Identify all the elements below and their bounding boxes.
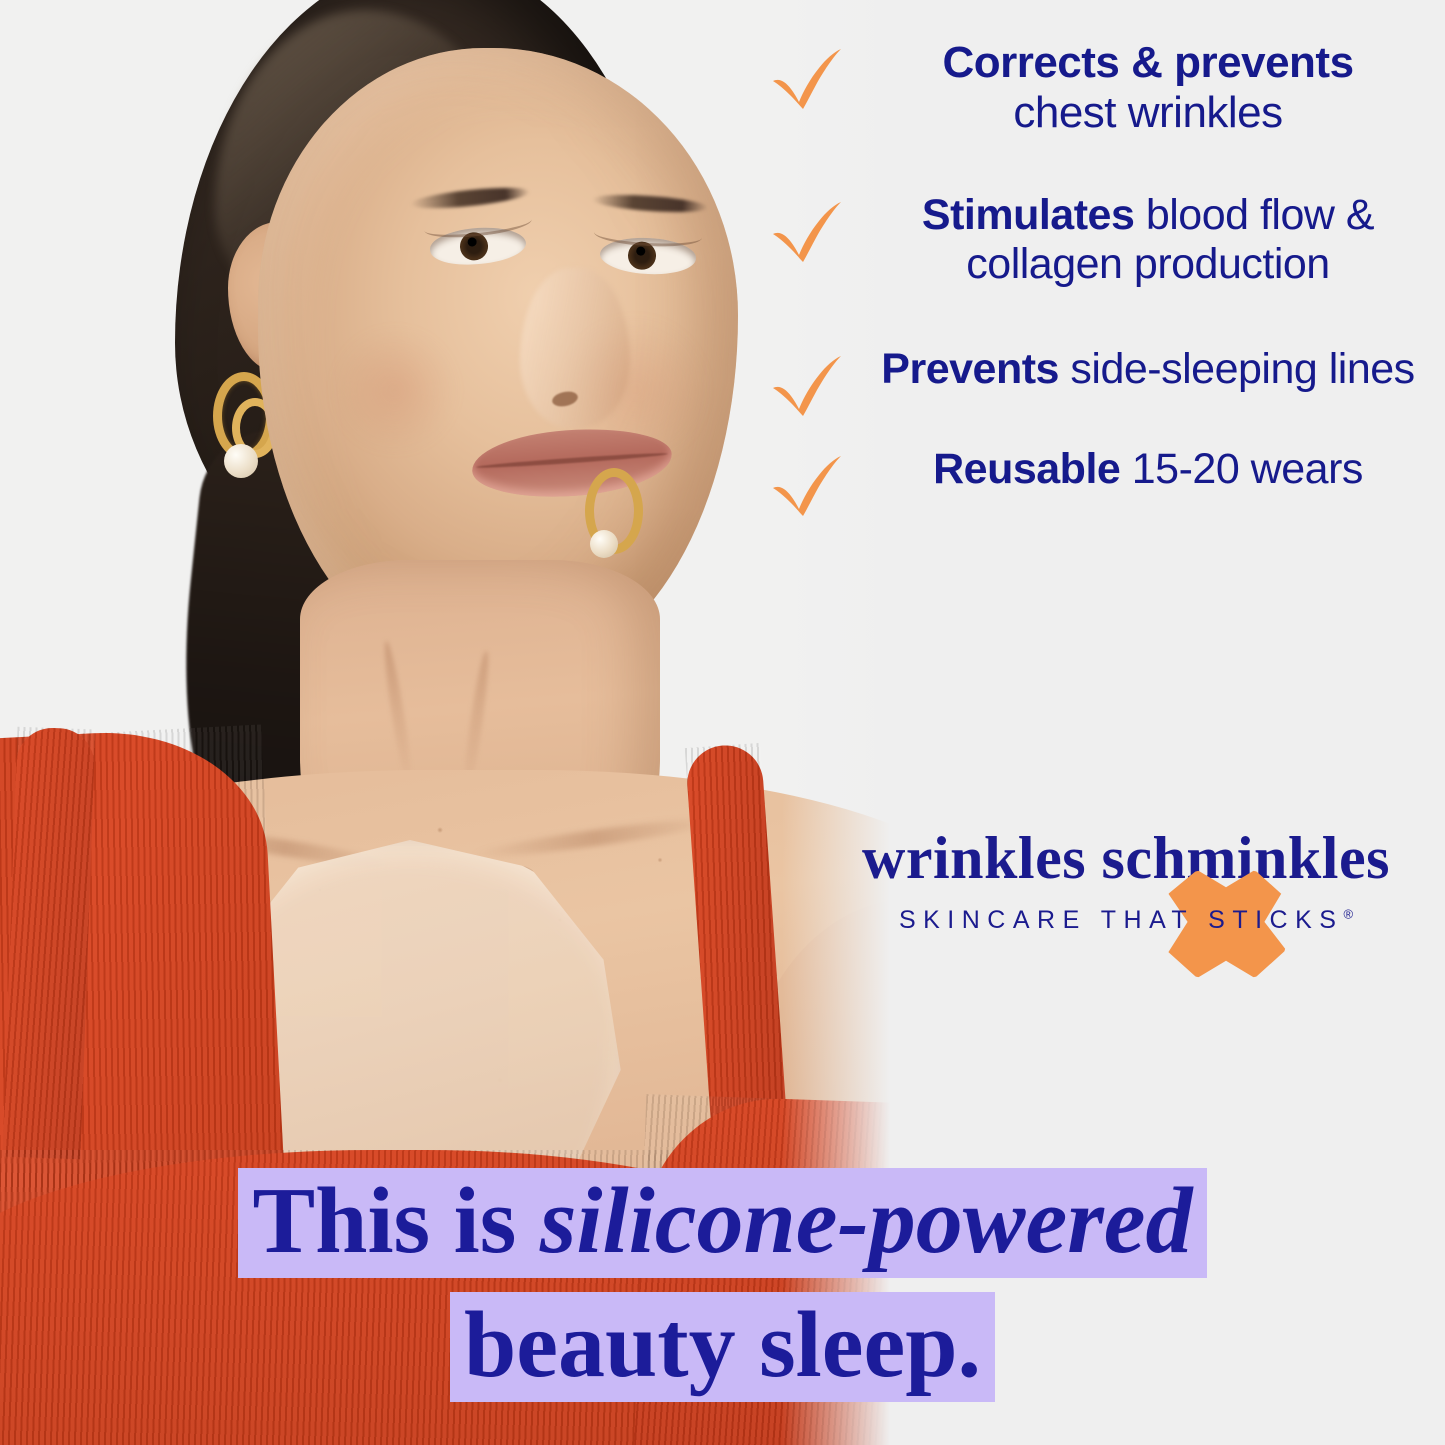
benefit-item-stimulates: Stimulates blood flow & collagen product… xyxy=(770,191,1430,288)
headline-line-2: beauty sleep. xyxy=(0,1292,1445,1402)
headline-italic-text: silicone-powered xyxy=(540,1169,1193,1273)
headline-band-2: beauty sleep. xyxy=(450,1292,995,1402)
orange-checkmark-icon xyxy=(770,355,844,417)
registered-trademark-mark: ® xyxy=(1343,907,1353,922)
benefit-rest-text: side-sleeping lines xyxy=(1059,345,1415,393)
headline-line-1: This is silicone-powered xyxy=(0,1168,1445,1278)
benefit-item-reusable: Reusable 15-20 wears xyxy=(770,445,1430,494)
headline-band-1: This is silicone-powered xyxy=(238,1168,1206,1278)
benefit-text: Stimulates blood flow & collagen product… xyxy=(866,191,1430,288)
benefits-list: Corrects & prevents chest wrinkles Stimu… xyxy=(770,38,1430,548)
benefit-item-prevents: Prevents side-sleeping lines xyxy=(770,345,1430,394)
orange-checkmark-icon xyxy=(770,455,844,517)
brand-tagline: SKINCARE THAT STICKS® xyxy=(826,906,1426,935)
pearl-drop-right xyxy=(590,530,618,558)
brand-logo: wrinkles schminkles SKINCARE THAT STICKS… xyxy=(826,828,1426,978)
cheek-left xyxy=(330,330,460,450)
tank-top-strap-left xyxy=(3,727,96,1159)
benefit-bold-text: Reusable xyxy=(933,445,1120,493)
orange-checkmark-icon xyxy=(770,201,844,263)
nose xyxy=(520,268,630,428)
benefit-rest-text: 15-20 wears xyxy=(1120,445,1363,493)
benefit-item-corrects-prevents: Corrects & prevents chest wrinkles xyxy=(770,38,1430,137)
pearl-drop-left xyxy=(224,444,258,478)
headline: This is silicone-powered beauty sleep. xyxy=(0,1168,1445,1402)
benefit-text: Reusable 15-20 wears xyxy=(866,445,1430,494)
headline-plain-text: This is xyxy=(252,1169,539,1273)
benefit-bold-text: Corrects & prevents xyxy=(942,38,1353,87)
rib-knit-texture xyxy=(3,727,96,1159)
brand-tagline-text: SKINCARE THAT STICKS xyxy=(899,906,1344,934)
benefit-text: Corrects & prevents chest wrinkles xyxy=(866,38,1430,137)
product-advertisement: Corrects & prevents chest wrinkles Stimu… xyxy=(0,0,1445,1445)
benefit-bold-text: Prevents xyxy=(881,345,1059,393)
benefit-rest-text: chest wrinkles xyxy=(1013,88,1282,137)
brand-wordmark: wrinkles schminkles xyxy=(826,828,1426,888)
benefit-text: Prevents side-sleeping lines xyxy=(866,345,1430,394)
benefit-bold-text: Stimulates xyxy=(922,191,1134,239)
orange-checkmark-icon xyxy=(770,48,844,110)
